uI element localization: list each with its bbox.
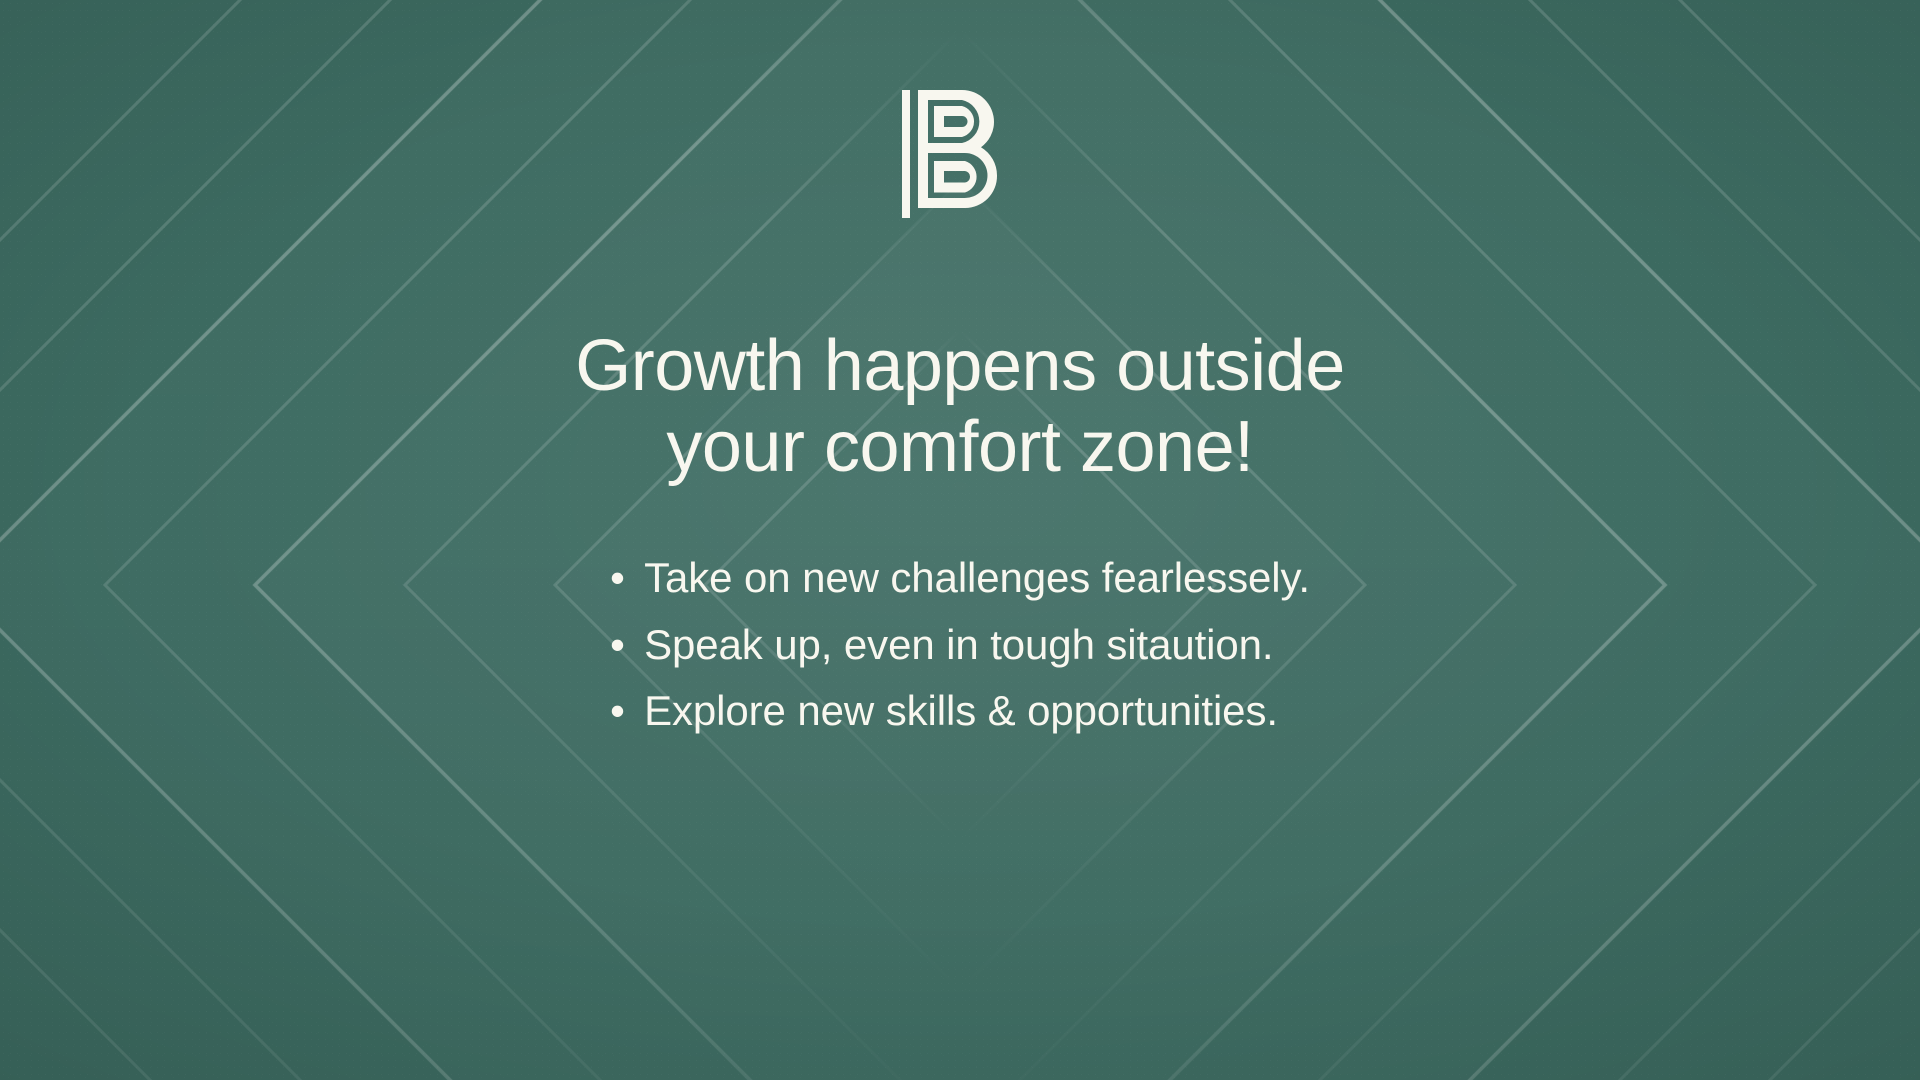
headline-line-2: your comfort zone! — [370, 407, 1550, 488]
list-item-label: Take on new challenges fearlessely. — [644, 545, 1310, 611]
bullet-marker-icon: • — [610, 545, 644, 611]
slide-content: Growth happens outside your comfort zone… — [0, 0, 1920, 1080]
bullet-marker-icon: • — [610, 612, 644, 678]
headline-line-1: Growth happens outside — [370, 326, 1550, 407]
list-item: • Take on new challenges fearlessely. — [610, 545, 1310, 611]
headline: Growth happens outside your comfort zone… — [370, 326, 1550, 487]
presentation-slide: Growth happens outside your comfort zone… — [0, 0, 1920, 1080]
list-item-label: Explore new skills & opportunities. — [644, 678, 1278, 744]
brand-logo — [901, 88, 1019, 220]
list-item: • Speak up, even in tough sitaution. — [610, 612, 1310, 678]
bullet-marker-icon: • — [610, 678, 644, 744]
list-item: • Explore new skills & opportunities. — [610, 678, 1310, 744]
letter-b-monogram-icon — [901, 88, 1019, 220]
bullet-list: • Take on new challenges fearlessely. • … — [610, 545, 1310, 744]
list-item-label: Speak up, even in tough sitaution. — [644, 612, 1273, 678]
